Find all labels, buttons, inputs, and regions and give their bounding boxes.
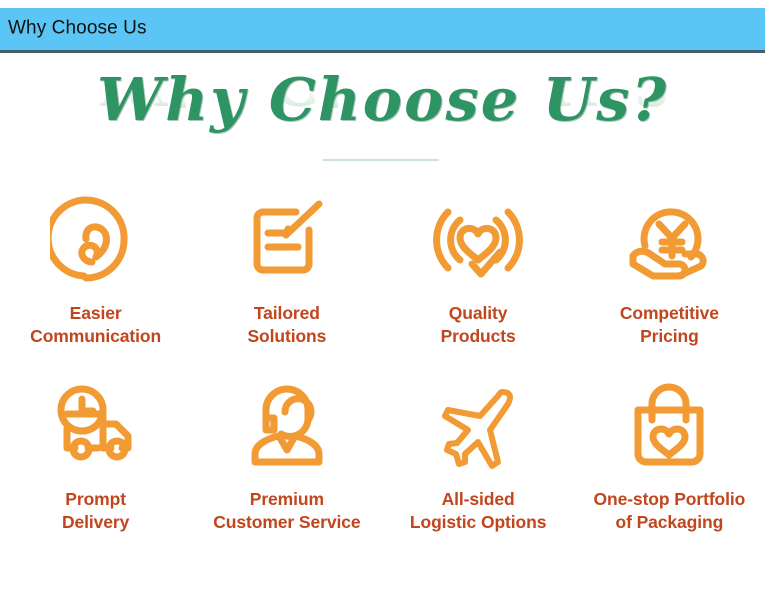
hand-holding-yen-coin-icon xyxy=(619,190,719,290)
feature-item-easier-communication[interactable]: Easier Communication xyxy=(0,190,191,348)
feature-label: Competitive Pricing xyxy=(620,302,719,348)
feature-label: All-sided Logistic Options xyxy=(410,488,546,534)
heart-signal-check-icon xyxy=(428,190,528,290)
feature-item-tailored-solutions[interactable]: Tailored Solutions xyxy=(191,190,382,348)
hero-heading-block: Why Choose Us? Why Choose Us? xyxy=(0,56,765,168)
feature-label: Easier Communication xyxy=(30,302,161,348)
feature-item-quality-products[interactable]: Quality Products xyxy=(383,190,574,348)
feature-item-premium-customer-service[interactable]: Premium Customer Service xyxy=(191,376,382,534)
ear-in-circle-icon xyxy=(46,190,146,290)
feature-label: Premium Customer Service xyxy=(213,488,360,534)
hero-heading-wrap: Why Choose Us? Why Choose Us? xyxy=(0,56,765,147)
shopping-bag-heart-icon xyxy=(619,376,719,476)
hero-divider xyxy=(323,159,439,161)
feature-label: Tailored Solutions xyxy=(247,302,326,348)
window-title-banner: Why Choose Us xyxy=(0,8,765,53)
hero-heading-text: Why Choose Us? xyxy=(0,56,765,129)
delivery-truck-clock-icon xyxy=(46,376,146,476)
feature-item-competitive-pricing[interactable]: Competitive Pricing xyxy=(574,190,765,348)
feature-item-all-sided-logistic-options[interactable]: All-sided Logistic Options xyxy=(383,376,574,534)
feature-label: Prompt Delivery xyxy=(62,488,129,534)
feature-item-one-stop-portfolio-of-packaging[interactable]: One-stop Portfolio of Packaging xyxy=(574,376,765,534)
feature-label: One-stop Portfolio of Packaging xyxy=(593,488,745,534)
features-grid: Easier Communication Tailored Solutions xyxy=(0,190,765,534)
headset-agent-icon xyxy=(237,376,337,476)
features-row-2: Prompt Delivery Premium Customer Service xyxy=(0,376,765,534)
airplane-icon xyxy=(428,376,528,476)
window-title-text: Why Choose Us xyxy=(8,18,147,40)
feature-item-prompt-delivery[interactable]: Prompt Delivery xyxy=(0,376,191,534)
feature-label: Quality Products xyxy=(441,302,516,348)
document-pencil-icon xyxy=(237,190,337,290)
features-row-1: Easier Communication Tailored Solutions xyxy=(0,190,765,348)
